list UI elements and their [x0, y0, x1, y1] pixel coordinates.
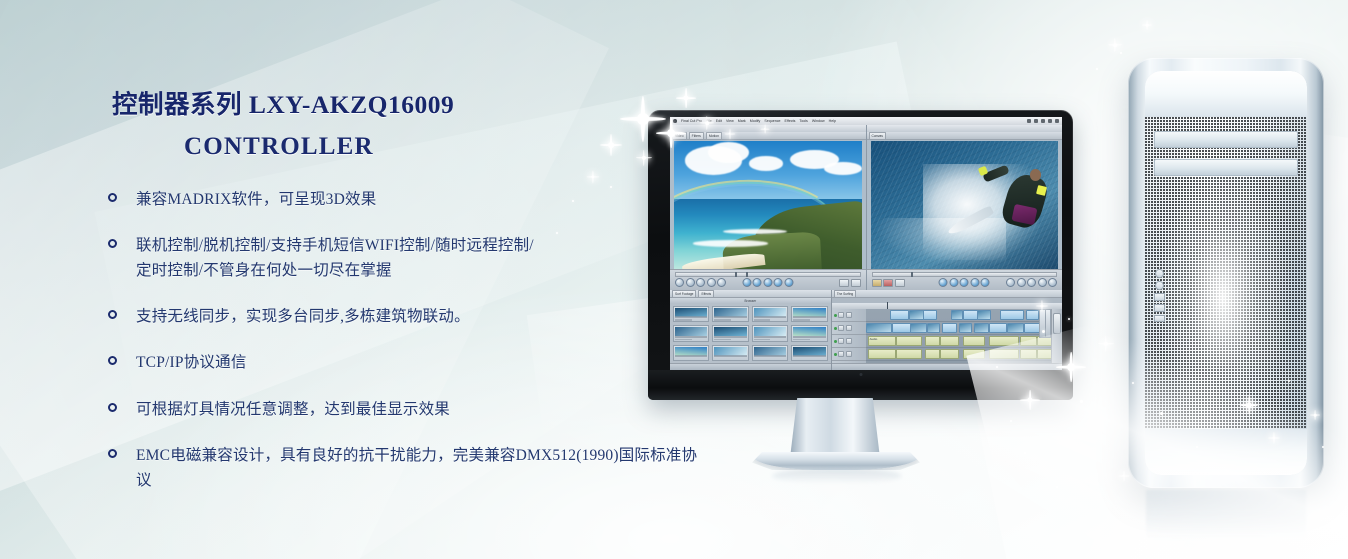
sparkle-star-icon: [1142, 20, 1152, 30]
menu-item-tools[interactable]: Tools: [799, 119, 807, 123]
feature-text: 可根据灯具情况任意调整，达到最佳显示效果: [136, 401, 450, 418]
ring-bullet-icon: [108, 310, 117, 319]
timeline-audio-clip[interactable]: [925, 349, 940, 359]
play-in-to-out-button[interactable]: [753, 278, 762, 287]
optical-drive-slot-1[interactable]: [1154, 131, 1298, 148]
timeline-vertical-scrollbar[interactable]: [1051, 309, 1062, 364]
add-keyframe-button[interactable]: [1038, 278, 1047, 287]
surf-line: [723, 229, 787, 234]
viewer-panel[interactable]: Video Filters Motion: [670, 125, 866, 290]
final-cut-pro-window: Final Cut Pro File Edit View Mark Modify…: [670, 117, 1062, 370]
thumbnail-meta: [793, 339, 810, 341]
menu-item-modify[interactable]: Modify: [750, 119, 761, 123]
usb-port-icon[interactable]: [1154, 293, 1165, 301]
play-around-button[interactable]: [774, 278, 783, 287]
record-button[interactable]: [883, 279, 893, 287]
tab-surf-footage[interactable]: Surf Footage: [672, 290, 696, 297]
timeline-clip[interactable]: [890, 310, 909, 320]
desktop-tower-icon: [1128, 58, 1324, 488]
thumbnail-label: [714, 355, 746, 357]
page-title: 控制器系列 LXY-AKZQ16009: [112, 84, 700, 121]
timeline-clip[interactable]: [1007, 323, 1024, 333]
cloud-shape: [749, 156, 783, 170]
timeline-clip[interactable]: [923, 310, 936, 320]
copy-column: 控制器系列 LXY-AKZQ16009 CONTROLLER 兼容MADRIX软…: [0, 0, 700, 514]
display-icon: Final Cut Pro File Edit View Mark Modify…: [648, 110, 1073, 400]
spotlight-icon[interactable]: [1055, 119, 1059, 123]
timeline-clip[interactable]: [892, 323, 911, 333]
timeline-track-a2[interactable]: [866, 348, 1052, 361]
menu-item-app[interactable]: Final Cut Pro: [681, 119, 702, 123]
usb-port-icon[interactable]: [1154, 304, 1165, 312]
tab-effects[interactable]: Effects: [698, 290, 714, 297]
canvas-scrubber[interactable]: [872, 272, 1058, 277]
previous-edit-button[interactable]: [742, 278, 751, 287]
battery-icon[interactable]: [1048, 119, 1052, 123]
track-control-v1[interactable]: [832, 322, 866, 335]
timeline-audio-clip[interactable]: [940, 349, 959, 359]
timeline-clip[interactable]: [974, 323, 989, 333]
list-item[interactable]: [712, 306, 748, 322]
menu-item-effects[interactable]: Effects: [785, 119, 796, 123]
thumbnail-label: [714, 336, 746, 338]
feature-text: TCP/IP协议通信: [136, 354, 247, 371]
timeline-audio-clip[interactable]: [963, 349, 985, 359]
play-button-icon[interactable]: [960, 278, 969, 287]
thumbnail-meta: [754, 339, 771, 341]
playhead-marker[interactable]: [746, 272, 748, 277]
monitor-screen: Final Cut Pro File Edit View Mark Modify…: [670, 117, 1062, 370]
play-button-icon[interactable]: [763, 278, 772, 287]
timeline-clip[interactable]: [866, 323, 892, 333]
feature-text: EMC电磁兼容设计，具有良好的抗干扰能力，完美兼容DMX512(1990)国际标…: [136, 447, 697, 489]
menu-item-help[interactable]: Help: [829, 119, 836, 123]
viewer-row: Video Filters Motion: [670, 125, 1062, 290]
surf-line: [693, 240, 768, 246]
timeline-horizontal-scrollbar[interactable]: [832, 363, 1062, 370]
viewer-left-buttons[interactable]: [675, 278, 726, 287]
viewer-transport-buttons[interactable]: [742, 278, 793, 287]
viewer-scrubber[interactable]: [675, 272, 861, 277]
thumbnail-label: [675, 355, 707, 357]
power-button-icon[interactable]: [1155, 269, 1164, 278]
ring-bullet-icon: [108, 403, 117, 412]
timeline-clip[interactable]: [942, 323, 957, 333]
thumbnail-label: [793, 336, 825, 338]
viewer-tab-strip[interactable]: Video Filters Motion: [670, 132, 866, 140]
feature-list: 兼容MADRIX软件，可呈现3D效果 联机控制/脱机控制/支持手机短信WIFI控…: [0, 187, 700, 493]
list-item: EMC电磁兼容设计，具有良好的抗干扰能力，完美兼容DMX512(1990)国际标…: [108, 443, 700, 493]
thumbnail-meta: [675, 319, 692, 321]
timeline-track-v2[interactable]: [866, 309, 1052, 322]
tab-motion[interactable]: Motion: [706, 132, 722, 139]
track-control-v2[interactable]: [832, 309, 866, 322]
timeline-audio-clip[interactable]: [896, 349, 922, 359]
timeline-audio-clip[interactable]: [896, 336, 922, 346]
timeline-audio-clip[interactable]: [989, 349, 1019, 359]
list-item[interactable]: [791, 325, 827, 341]
track-audible-icon[interactable]: [834, 340, 837, 343]
previous-edit-button[interactable]: [939, 278, 948, 287]
scrollbar-thumb[interactable]: [1053, 313, 1061, 334]
canvas-left-buttons[interactable]: [872, 279, 905, 287]
thumbnail-label: [793, 355, 825, 357]
lower-panes: Surf Footage Effects Browser: [670, 290, 1062, 370]
match-frame-button[interactable]: [1048, 278, 1057, 287]
audio-meters: [1039, 309, 1051, 338]
match-frame-button[interactable]: [717, 278, 726, 287]
timeline-clip[interactable]: [927, 323, 940, 333]
thumbnail-meta: [714, 339, 731, 341]
list-item[interactable]: [791, 306, 827, 322]
sparkle-dot: [1120, 52, 1122, 54]
menu-item-mark[interactable]: Mark: [738, 119, 746, 123]
monitor-stand-reflection: [772, 468, 902, 484]
feature-text: 兼容MADRIX软件，可呈现3D效果: [136, 191, 376, 208]
timeline-track-gutter[interactable]: [832, 309, 867, 364]
tab-filters[interactable]: Filters: [689, 132, 704, 139]
tower-top-cap: [1145, 71, 1307, 117]
thumbnail-label: [793, 316, 825, 318]
list-item[interactable]: [752, 306, 788, 322]
add-keyframe-button[interactable]: [707, 278, 716, 287]
list-item: 联机控制/脱机控制/支持手机短信WIFI控制/随时远程控制/ 定时控制/不管身在…: [108, 233, 700, 283]
thumbnail-meta: [793, 319, 810, 321]
track-target-icon[interactable]: [846, 351, 852, 357]
monitor-chin: [648, 370, 1073, 400]
feature-text: 支持无线同步，实现多台同步,多栋建筑物联动。: [136, 308, 470, 325]
play-around-button[interactable]: [970, 278, 979, 287]
track-lock-icon[interactable]: [838, 325, 844, 331]
track-target-icon[interactable]: [846, 338, 852, 344]
sparkle-dot: [1010, 420, 1012, 422]
view-options-button[interactable]: [895, 279, 905, 287]
timeline-audio-clip[interactable]: [868, 349, 896, 359]
canvas-controls[interactable]: [867, 269, 1063, 290]
add-marker-button[interactable]: [696, 278, 705, 287]
list-item[interactable]: [752, 325, 788, 341]
timeline-clip[interactable]: [977, 310, 990, 320]
sparkle-dot: [1096, 68, 1098, 70]
list-item[interactable]: [791, 345, 827, 361]
timeline-clip[interactable]: [959, 323, 972, 333]
timeline-clip[interactable]: [989, 323, 1008, 333]
surfer-head: [1030, 169, 1041, 181]
tower-front-panel: [1145, 71, 1307, 475]
timeline-tab-strip[interactable]: The Surfing: [832, 290, 1062, 298]
playhead-marker[interactable]: [911, 272, 913, 277]
feature-text: 联机控制/脱机控制/支持手机短信WIFI控制/随时远程控制/: [136, 237, 534, 254]
list-item[interactable]: [712, 325, 748, 341]
canvas-right-buttons[interactable]: [1006, 278, 1057, 287]
timeline-clip[interactable]: [909, 310, 924, 320]
timeline-clip[interactable]: [963, 310, 978, 320]
track-lock-icon[interactable]: [838, 351, 844, 357]
list-item: 支持无线同步，实现多台同步,多栋建筑物联动。: [108, 304, 700, 329]
thumbnail-label: [675, 336, 707, 338]
timeline-track-a1[interactable]: Audio: [866, 335, 1052, 348]
track-control-a2[interactable]: [832, 348, 866, 361]
tab-video[interactable]: Video: [672, 132, 687, 139]
thumbnail-label: [714, 316, 746, 318]
menu-bar-status-items[interactable]: [1027, 119, 1059, 123]
browser-panel[interactable]: Surf Footage Effects Browser: [670, 290, 832, 370]
track-lock-icon[interactable]: [838, 338, 844, 344]
track-visibility-icon[interactable]: [834, 327, 837, 330]
browser-tab-strip[interactable]: Surf Footage Effects: [670, 290, 831, 298]
page-subtitle: CONTROLLER: [184, 133, 700, 161]
title-block: 控制器系列 LXY-AKZQ16009 CONTROLLER: [0, 0, 700, 161]
timeline-track-v1[interactable]: [866, 322, 1052, 335]
coastline-artwork: [674, 141, 862, 270]
list-item[interactable]: [673, 306, 709, 322]
clip-label: Audio: [870, 337, 878, 341]
track-audible-icon[interactable]: [834, 353, 837, 356]
timeline-clip[interactable]: [910, 323, 927, 333]
ring-bullet-icon: [108, 239, 117, 248]
timeline-clip[interactable]: [951, 310, 962, 320]
sparkle-dot: [1024, 452, 1026, 454]
list-item[interactable]: [673, 325, 709, 341]
list-item: 可根据灯具情况任意调整，达到最佳显示效果: [108, 397, 700, 422]
ring-bullet-icon: [108, 449, 117, 458]
timeline-audio-clip[interactable]: Audio: [868, 336, 896, 346]
playhead-marker[interactable]: [735, 272, 737, 277]
volume-icon[interactable]: [1034, 119, 1038, 123]
headphone-jack-icon[interactable]: [1155, 281, 1164, 290]
front-port-strip[interactable]: [1153, 269, 1166, 322]
timeline-audio-clip[interactable]: [1020, 336, 1037, 346]
next-edit-button[interactable]: [784, 278, 793, 287]
mark-in-button[interactable]: [1006, 278, 1015, 287]
list-item: 兼容MADRIX软件，可呈现3D效果: [108, 187, 700, 212]
list-item[interactable]: [712, 345, 748, 361]
list-item: TCP/IP协议通信: [108, 350, 700, 375]
thumbnail-meta: [714, 319, 731, 321]
thumbnail-label: [754, 336, 786, 338]
surfer-artwork: [871, 141, 1059, 270]
timeline-audio-clip[interactable]: [940, 336, 959, 346]
sparkle-star-icon: [1108, 38, 1122, 52]
track-visibility-icon[interactable]: [834, 314, 837, 317]
track-target-icon[interactable]: [846, 312, 852, 318]
list-item[interactable]: [673, 345, 709, 361]
timeline-audio-clip[interactable]: [925, 336, 940, 346]
recent-clips-button[interactable]: [839, 279, 849, 287]
optical-drive-slot-2[interactable]: [1154, 159, 1298, 176]
timeline-clip[interactable]: [1000, 310, 1024, 320]
tab-sequence[interactable]: The Surfing: [834, 290, 856, 297]
timeline-audio-clip[interactable]: [1020, 349, 1037, 359]
product-banner: 控制器系列 LXY-AKZQ16009 CONTROLLER 兼容MADRIX软…: [0, 0, 1348, 559]
play-in-to-out-button[interactable]: [949, 278, 958, 287]
canvas-tab-strip[interactable]: Canvas: [867, 132, 1063, 140]
ring-bullet-icon: [108, 193, 117, 202]
tower-reflection: [1146, 490, 1306, 552]
timeline-clip[interactable]: [1026, 310, 1039, 320]
timeline-panel[interactable]: The Surfing: [832, 290, 1062, 370]
canvas-transport-buttons[interactable]: [939, 278, 990, 287]
wifi-icon[interactable]: [1041, 119, 1045, 123]
firewire-port-icon[interactable]: [1154, 315, 1165, 322]
sparkle-dot: [1056, 486, 1058, 488]
track-lock-icon[interactable]: [838, 312, 844, 318]
apple-logo-icon[interactable]: [673, 119, 677, 123]
mark-out-button[interactable]: [686, 278, 695, 287]
mark-out-button[interactable]: [1017, 278, 1026, 287]
menu-item-view[interactable]: View: [726, 119, 734, 123]
thumbnail-meta: [754, 319, 771, 321]
sparkle-star-icon: [1098, 336, 1114, 352]
thumbnail-label: [675, 316, 707, 318]
cloud-shape: [708, 142, 749, 163]
menu-item-sequence[interactable]: Sequence: [764, 119, 780, 123]
tab-canvas[interactable]: Canvas: [869, 132, 887, 139]
browser-thumbnail-grid[interactable]: [670, 303, 831, 364]
cloud-shape: [824, 162, 862, 175]
monitor-stand-neck: [790, 398, 880, 458]
audio-meter-right: [1046, 310, 1051, 337]
render-status-button[interactable]: [872, 279, 882, 287]
sparkle-dot: [1080, 400, 1083, 403]
next-edit-button[interactable]: [981, 278, 990, 287]
list-item[interactable]: [752, 345, 788, 361]
viewer-right-buttons[interactable]: [839, 279, 861, 287]
track-control-a1[interactable]: [832, 335, 866, 348]
ring-bullet-icon: [108, 356, 117, 365]
timeline-tracks[interactable]: Audio: [866, 309, 1052, 364]
browser-scrollbar[interactable]: [670, 363, 831, 370]
tower-bottom-cap: [1145, 429, 1307, 475]
viewer-image-coastline: [674, 141, 862, 270]
thumbnail-meta: [675, 339, 692, 341]
menu-item-window[interactable]: Window: [812, 119, 825, 123]
mark-in-button[interactable]: [675, 278, 684, 287]
timeline-audio-clip[interactable]: [1037, 349, 1052, 359]
track-target-icon[interactable]: [846, 325, 852, 331]
generator-button[interactable]: [851, 279, 861, 287]
audio-meter-left: [1040, 310, 1045, 337]
status-led-icon: [859, 373, 862, 376]
bluetooth-icon[interactable]: [1027, 119, 1031, 123]
menu-item-file[interactable]: File: [706, 119, 712, 123]
timeline-audio-clip[interactable]: [989, 336, 1019, 346]
canvas-panel[interactable]: Canvas: [866, 125, 1063, 290]
canvas-image-surfer: [871, 141, 1059, 270]
thumbnail-label: [754, 355, 786, 357]
feature-text-continued: 定时控制/不管身在何处一切尽在掌握: [136, 262, 392, 279]
thumbnail-label: [754, 316, 786, 318]
timeline-audio-clip[interactable]: [963, 336, 985, 346]
menu-item-edit[interactable]: Edit: [716, 119, 722, 123]
viewer-controls[interactable]: [670, 269, 866, 290]
add-marker-button[interactable]: [1027, 278, 1036, 287]
